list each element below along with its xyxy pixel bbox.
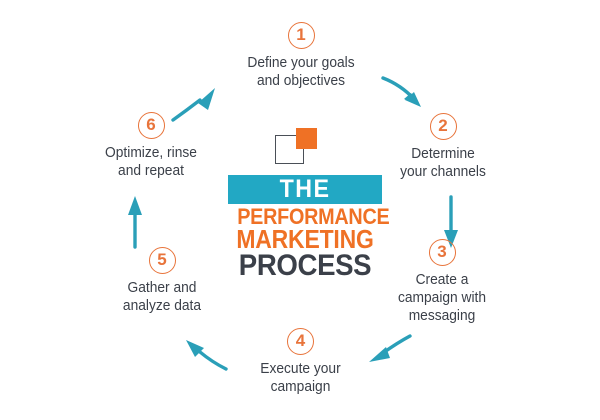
performance-marketing-process-diagram: THE PERFORMANCE MARKETING PROCESS 1 Defi… bbox=[0, 0, 600, 420]
logo-process-text: PROCESS bbox=[234, 249, 376, 283]
step-6-label: Optimize, rinse and repeat bbox=[85, 144, 218, 180]
logo-the-text: THE bbox=[233, 175, 376, 204]
step-3-label: Create a campaign with messaging bbox=[376, 271, 509, 325]
step-2: 2 Determine your channels bbox=[378, 113, 508, 181]
step-5: 5 Gather and analyze data bbox=[92, 247, 232, 315]
center-logo: THE PERFORMANCE MARKETING PROCESS bbox=[228, 128, 384, 288]
step-4-number-badge: 4 bbox=[287, 328, 314, 355]
step-6: 6 Optimize, rinse and repeat bbox=[81, 112, 221, 180]
step-4: 4 Execute your campaign bbox=[228, 328, 373, 396]
step-4-label: Execute your campaign bbox=[232, 360, 370, 396]
logo-mark bbox=[228, 128, 384, 174]
arrow-step1-to-step2 bbox=[383, 78, 421, 107]
arrow-step5-to-step6 bbox=[128, 196, 142, 247]
arrow-step3-to-step4 bbox=[369, 336, 410, 362]
step-5-number-badge: 5 bbox=[149, 247, 176, 274]
step-2-label: Determine your channels bbox=[381, 145, 505, 181]
logo-the-band: THE bbox=[228, 175, 382, 204]
orange-square-icon bbox=[296, 128, 317, 149]
step-3: 3 Create a campaign with messaging bbox=[372, 239, 512, 325]
step-1-label: Define your goals and objectives bbox=[225, 54, 377, 90]
arrow-step4-to-step5 bbox=[186, 340, 226, 369]
step-1: 1 Define your goals and objectives bbox=[221, 22, 381, 90]
step-5-label: Gather and analyze data bbox=[96, 279, 229, 315]
step-3-number-badge: 3 bbox=[429, 239, 456, 266]
step-6-number-badge: 6 bbox=[138, 112, 165, 139]
step-2-number-badge: 2 bbox=[430, 113, 457, 140]
step-1-number-badge: 1 bbox=[288, 22, 315, 49]
